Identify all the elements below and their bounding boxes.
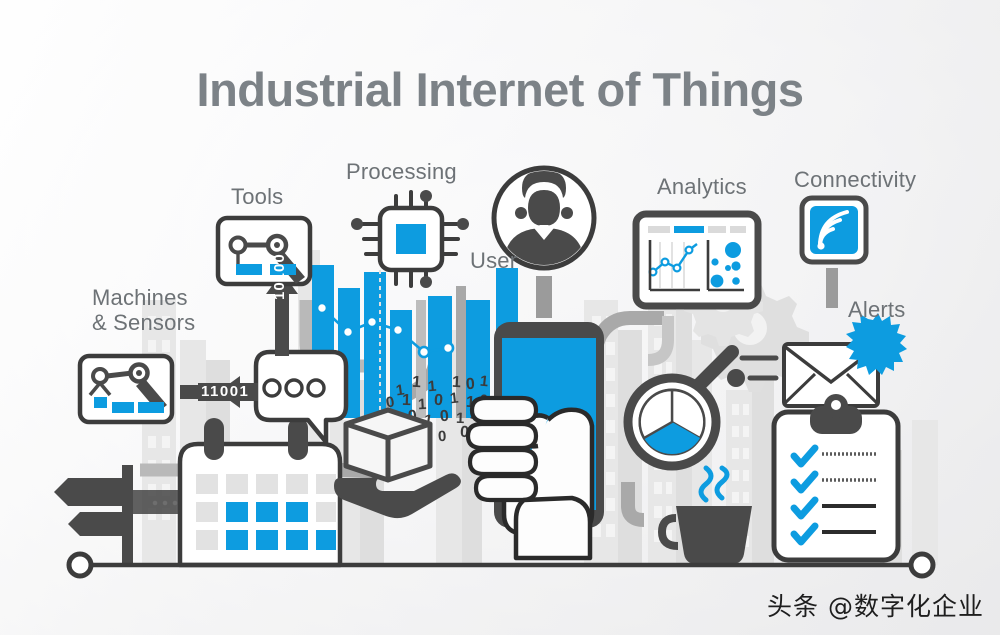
label-alerts: Alerts xyxy=(848,298,905,323)
label-tools: Tools xyxy=(231,185,283,210)
watermark: 头条 @数字化企业 xyxy=(767,587,984,623)
robot-arm-icon xyxy=(80,356,172,422)
dashboard-monitor-icon xyxy=(636,214,758,306)
coffee-cup-icon xyxy=(662,468,752,564)
cpu-chip-icon xyxy=(351,190,469,288)
magnifier-pie-chart-icon xyxy=(628,352,732,466)
infographic-canvas: Industrial Internet of Things 1111010 xyxy=(0,0,1000,635)
label-line-1: Machines xyxy=(92,285,188,310)
clipboard-checklist-icon xyxy=(774,394,898,560)
label-connectivity: Connectivity xyxy=(794,168,916,193)
wifi-signal-icon xyxy=(802,198,866,308)
hand-phone-icon xyxy=(468,322,604,558)
robot-arm-icon xyxy=(218,218,310,284)
hand-package-icon xyxy=(334,410,461,518)
arrow-bits-vertical: 10100 xyxy=(272,253,289,300)
label-analytics: Analytics xyxy=(657,175,747,200)
user-avatar-icon xyxy=(494,168,594,318)
label-line-2: & Sensors xyxy=(92,310,195,335)
label-processing: Processing xyxy=(346,160,457,185)
label-user: User xyxy=(470,249,517,274)
arrow-bits-horizontal: 11001 xyxy=(201,384,249,401)
label-machines-sensors: Machines & Sensors xyxy=(92,286,195,335)
factory-building-icon xyxy=(180,418,340,565)
